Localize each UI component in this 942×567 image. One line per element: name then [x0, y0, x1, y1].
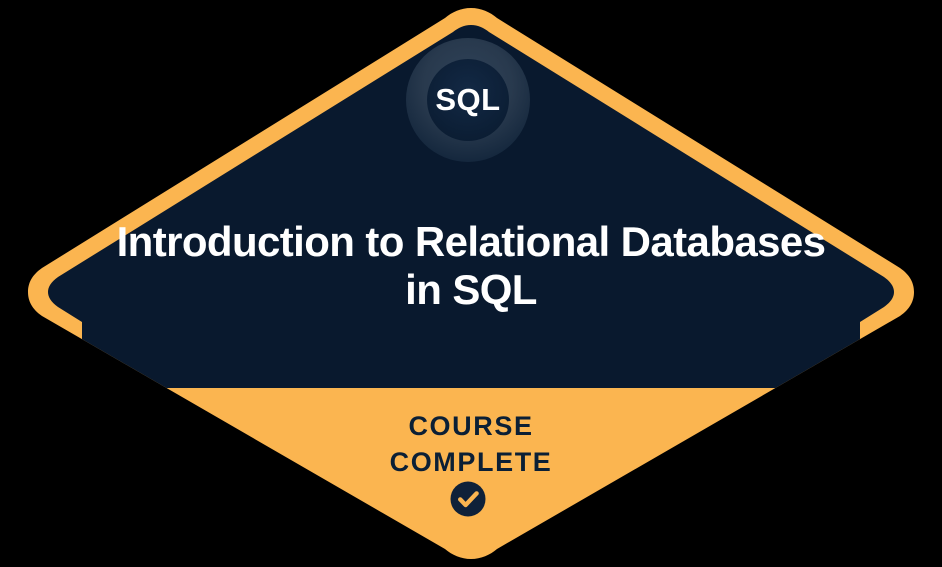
- badge-diamond-shape: [0, 0, 942, 567]
- course-completion-badge: SQL Introduction to Relational Databases…: [0, 0, 942, 567]
- check-circle-icon: [451, 482, 486, 517]
- sql-ring-icon: [406, 38, 530, 162]
